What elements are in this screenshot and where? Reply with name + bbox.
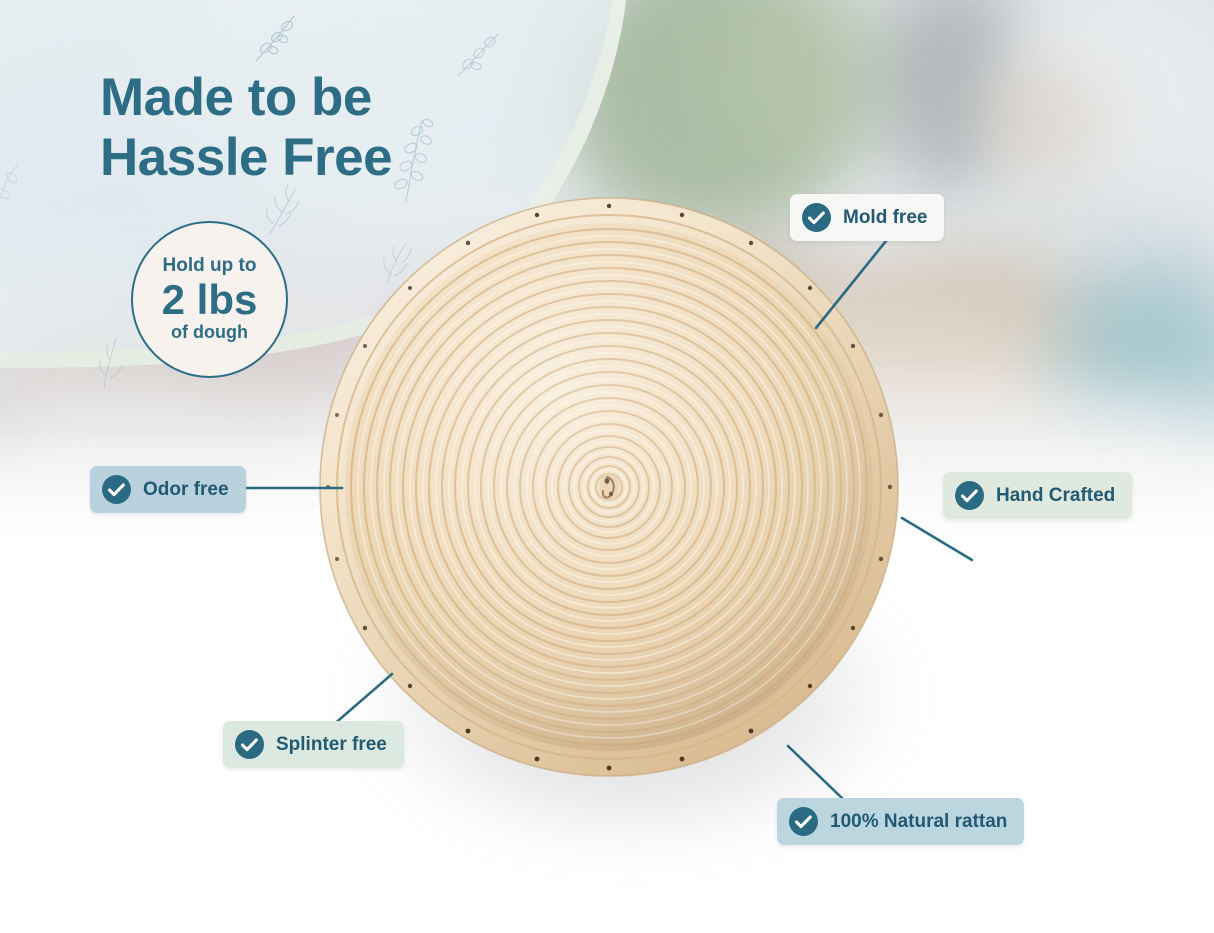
- check-icon: [789, 807, 818, 836]
- feature-label: Odor free: [143, 479, 229, 501]
- feature-pill-natural-rattan[interactable]: 100% Natural rattan: [777, 798, 1024, 845]
- infographic-canvas: Made to be Hassle Free Hold up to 2 lbs …: [0, 0, 1214, 933]
- connector-line-mold-free: [812, 236, 902, 332]
- feature-pill-splinter-free[interactable]: Splinter free: [223, 721, 404, 768]
- feature-label: Splinter free: [276, 734, 387, 756]
- feature-pill-hand-crafted[interactable]: Hand Crafted: [943, 472, 1132, 519]
- page-title: Made to be Hassle Free: [100, 68, 392, 189]
- background-blur-blob: [980, 60, 1100, 180]
- botanical-sprig-icon: [262, 182, 318, 240]
- botanical-sprig-icon: [0, 160, 32, 230]
- feature-label: Mold free: [843, 207, 927, 229]
- capacity-badge-top-text: Hold up to: [163, 256, 257, 277]
- check-icon: [235, 730, 264, 759]
- capacity-badge: Hold up to 2 lbs of dough: [131, 221, 288, 378]
- check-icon: [102, 475, 131, 504]
- botanical-sprig-icon: [452, 26, 508, 82]
- capacity-badge-bottom-text: of dough: [171, 323, 248, 343]
- check-icon: [955, 481, 984, 510]
- headline-line-2: Hassle Free: [100, 128, 392, 188]
- connector-line-odor-free: [238, 484, 348, 492]
- feature-label: Hand Crafted: [996, 485, 1115, 507]
- capacity-badge-amount: 2 lbs: [162, 278, 258, 322]
- check-icon: [802, 203, 831, 232]
- connector-line-natural-rattan: [786, 744, 852, 806]
- headline-line-1: Made to be: [100, 68, 372, 127]
- feature-pill-odor-free[interactable]: Odor free: [90, 466, 246, 513]
- connector-line-hand-crafted: [900, 516, 976, 566]
- feature-label: 100% Natural rattan: [830, 811, 1007, 833]
- botanical-sprig-icon: [92, 332, 132, 392]
- botanical-sprig-icon: [246, 6, 316, 66]
- botanical-sprig-icon: [388, 106, 448, 206]
- feature-pill-mold-free[interactable]: Mold free: [790, 194, 944, 241]
